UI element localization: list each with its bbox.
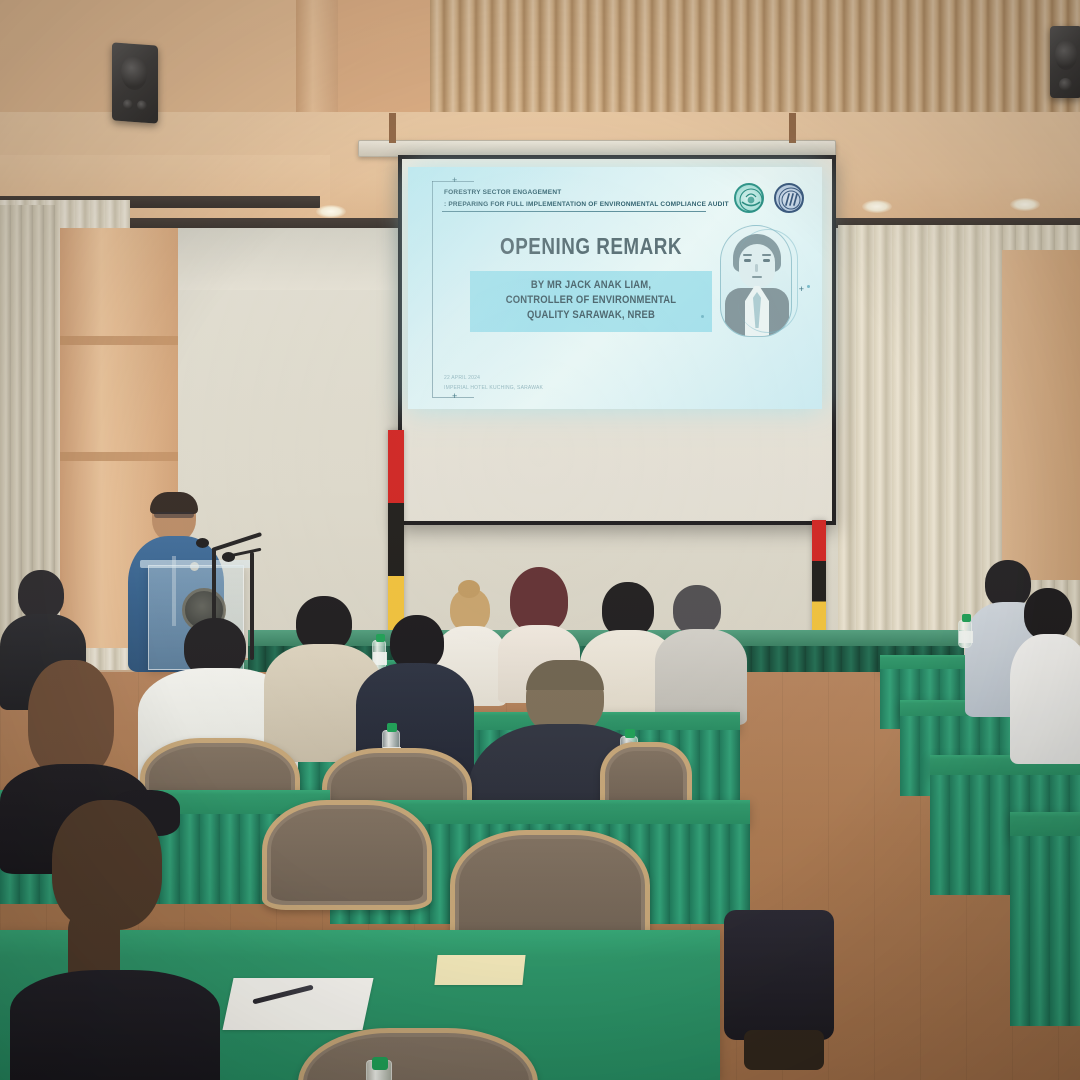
- attendee-shoe: [744, 1030, 824, 1070]
- side-table: [1010, 812, 1080, 838]
- microphone-head: [196, 538, 209, 548]
- lectern-top: [140, 560, 252, 568]
- hall-wall-right-panel: [1002, 250, 1080, 580]
- attendee-bag: [724, 910, 834, 1040]
- pillar-trim: [60, 336, 178, 345]
- slide-header-line-2: : PREPARING FOR FULL IMPLEMENTATION OF E…: [444, 199, 744, 211]
- attendee-grey-shirt: [655, 585, 747, 705]
- ceiling-downlight: [862, 200, 892, 213]
- attendee-ponytail: [10, 800, 220, 1080]
- attendee-right-white-shirt: [1010, 588, 1080, 758]
- sarawak-flag-left: [388, 430, 404, 645]
- attendee-body: [655, 629, 747, 725]
- slide-footer-line-2: IMPERIAL HOTEL KUCHING, SARAWAK: [444, 384, 543, 394]
- slide-footer: 22 APRIL 2024 IMPERIAL HOTEL KUCHING, SA…: [444, 374, 543, 393]
- ceiling-downlight: [316, 205, 346, 218]
- side-table-skirt: [1010, 836, 1080, 1026]
- slide-header-line-1: FORESTRY SECTOR ENGAGEMENT: [444, 187, 744, 199]
- wall-speaker-left: [112, 42, 158, 123]
- yellow-notepad: [434, 955, 525, 985]
- slide-footer-line-1: 22 APRIL 2024: [444, 374, 543, 384]
- nreb-logo-icon: [734, 183, 764, 213]
- microphone-head-2: [222, 552, 235, 562]
- sarawak-flag-right: [812, 520, 826, 640]
- slide-subtitle-line-3: QUALITY SARAWAK, NREB: [492, 308, 690, 323]
- attendee-hair-bun: [458, 580, 480, 598]
- slide-tick-mark: +: [799, 285, 804, 294]
- wall-speaker-right: [1050, 26, 1080, 98]
- slide-frame-rule: [432, 181, 433, 397]
- attendee-body: [10, 970, 220, 1080]
- slide-tick-mark: +: [452, 392, 457, 401]
- slide-subtitle-panel: BY MR JACK ANAK LIAM, CONTROLLER OF ENVI…: [470, 271, 712, 332]
- speaker-glasses: [154, 512, 194, 518]
- portrait-dot-decoration: [807, 285, 810, 288]
- note-paper: [222, 978, 373, 1030]
- agency-logo-icon: [774, 183, 804, 213]
- attendee-head: [1024, 588, 1072, 640]
- slide-header-underline: [442, 211, 706, 212]
- ceiling-downlight: [1010, 198, 1040, 211]
- attendee-head: [18, 570, 64, 620]
- attendee-head: [673, 585, 721, 635]
- attendee-body: [1010, 634, 1080, 764]
- portrait-arc-decoration: [738, 229, 798, 333]
- projection-screen: + + + FORESTRY SECTOR ENGAGEMENT : PREPA…: [398, 155, 836, 525]
- attendee-hair: [526, 660, 604, 690]
- banquet-chair: [262, 800, 432, 910]
- slide-subtitle-line-2: CONTROLLER OF ENVIRONMENTAL: [492, 293, 690, 308]
- slide-tick-mark: +: [452, 176, 457, 185]
- attendee-hair: [510, 567, 568, 633]
- slide-title: OPENING REMARK: [489, 233, 694, 260]
- presentation-slide: + + + FORESTRY SECTOR ENGAGEMENT : PREPA…: [408, 167, 822, 409]
- pillar-trim: [60, 452, 178, 461]
- slide-header: FORESTRY SECTOR ENGAGEMENT : PREPARING F…: [444, 187, 744, 211]
- water-bottle: [366, 1060, 392, 1080]
- speaker-hair: [150, 492, 198, 514]
- portrait-dot-decoration: [701, 315, 704, 318]
- attendee-hair: [28, 660, 114, 778]
- slide-subtitle-line-1: BY MR JACK ANAK LIAM,: [492, 278, 690, 293]
- conference-hall-photo: + + + FORESTRY SECTOR ENGAGEMENT : PREPA…: [0, 0, 1080, 1080]
- water-bottle: [958, 620, 972, 648]
